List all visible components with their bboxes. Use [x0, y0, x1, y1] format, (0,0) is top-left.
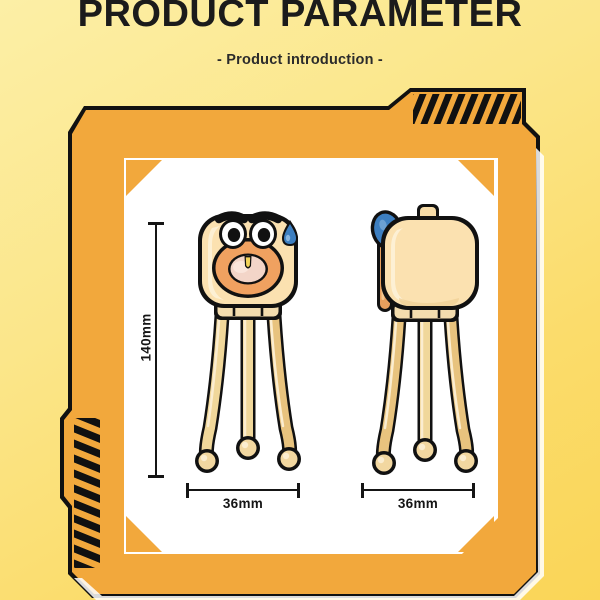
infographic-stage: PRODUCT PARAMETER - Product introduction… [0, 0, 600, 600]
front-head-body [198, 214, 298, 308]
product-front-view [178, 198, 318, 498]
height-dimension-line [155, 222, 157, 478]
product-back-view [355, 198, 495, 498]
height-dim-cap-bottom [148, 475, 164, 478]
height-dimension-label: 140mm [139, 313, 154, 361]
page-title: PRODUCT PARAMETER [0, 0, 600, 38]
back-body [381, 216, 479, 310]
page-subtitle: - Product introduction - [0, 52, 600, 68]
back-width-dimension-label: 36mm [361, 496, 475, 511]
front-width-dimension-label: 36mm [186, 496, 300, 511]
height-dim-cap-top [148, 222, 164, 225]
